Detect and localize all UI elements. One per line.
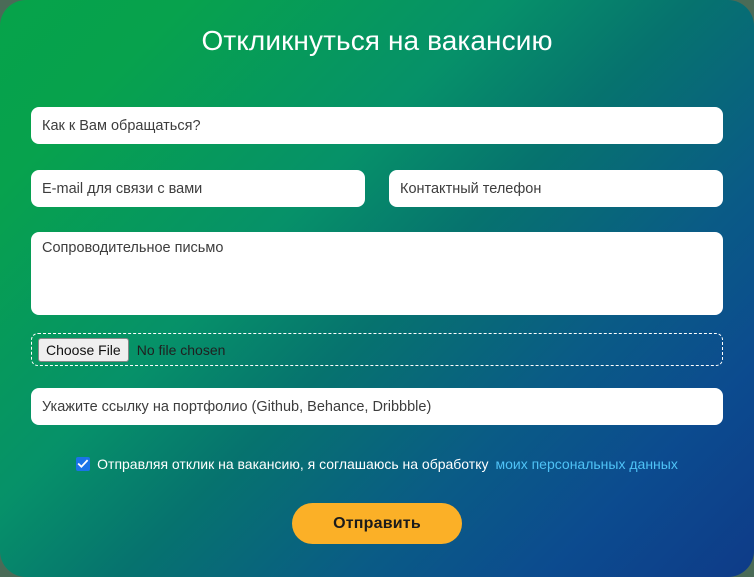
- consent-label: Отправляя отклик на вакансию, я соглашаю…: [97, 455, 488, 473]
- name-input[interactable]: [31, 107, 723, 144]
- portfolio-input[interactable]: [31, 388, 723, 425]
- phone-input[interactable]: [389, 170, 723, 207]
- consent-checkbox[interactable]: [76, 457, 90, 471]
- personal-data-link[interactable]: моих персональных данных: [495, 455, 677, 473]
- portfolio-field-row: [31, 388, 723, 425]
- application-form-card: Откликнуться на вакансию Choose File No …: [0, 0, 754, 577]
- consent-row: Отправляя отклик на вакансию, я соглашаю…: [0, 455, 754, 473]
- choose-file-button[interactable]: Choose File: [38, 338, 129, 362]
- name-field-row: [31, 107, 723, 144]
- submit-button[interactable]: Отправить: [292, 503, 462, 544]
- cover-letter-textarea[interactable]: [31, 232, 723, 315]
- page-title: Откликнуться на вакансию: [0, 24, 754, 58]
- checkmark-icon: [77, 458, 89, 470]
- file-status-label: No file chosen: [137, 342, 226, 358]
- contact-field-row: [31, 170, 723, 207]
- email-input[interactable]: [31, 170, 365, 207]
- file-upload-row: Choose File No file chosen: [31, 333, 723, 366]
- cover-letter-row: [31, 232, 723, 315]
- file-dropzone[interactable]: Choose File No file chosen: [31, 333, 723, 366]
- submit-row: Отправить: [0, 503, 754, 544]
